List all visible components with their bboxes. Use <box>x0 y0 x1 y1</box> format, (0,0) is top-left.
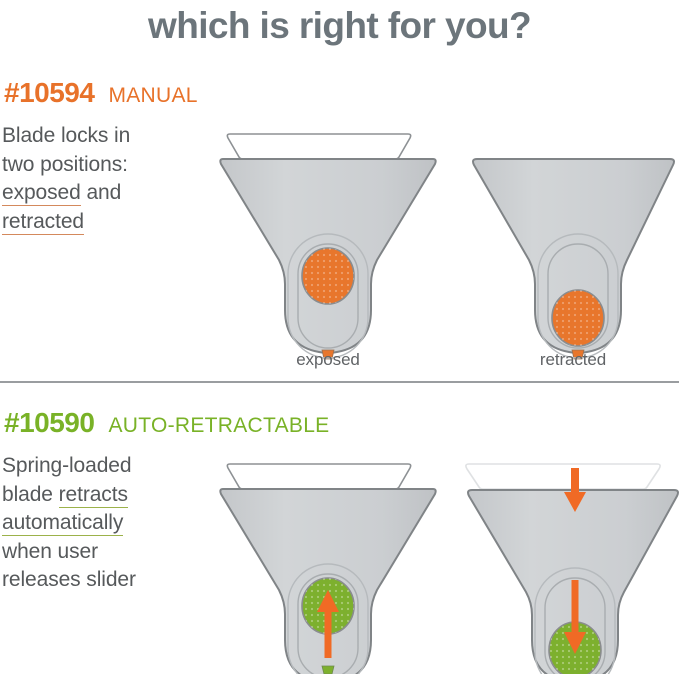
blade-tip <box>322 666 334 674</box>
blade-shape <box>227 134 410 159</box>
figure-blade-exposed <box>213 120 443 370</box>
infographic-page: which is right for you? #10594 MANUAL Bl… <box>0 0 679 674</box>
caption-exposed: exposed <box>213 350 443 370</box>
copy-text-emphasis: retracted <box>2 210 84 235</box>
copy-line: blade retracts <box>2 481 217 510</box>
copy-line: releases slider <box>2 566 217 595</box>
figure-slider-up <box>213 450 443 674</box>
copy-text-emphasis: automatically <box>2 511 123 536</box>
copy-text-emphasis: exposed <box>2 181 81 206</box>
copy-text: when user <box>2 540 98 563</box>
description-auto: Spring-loadedblade retractsautomatically… <box>2 452 217 595</box>
copy-line: Spring-loaded <box>2 452 217 481</box>
slider-knob <box>302 248 354 304</box>
sku-manual: #10594 <box>4 78 94 108</box>
figure-slider-down <box>458 450 679 674</box>
section-heading-auto: #10590 AUTO-RETRACTABLE <box>4 408 330 441</box>
figure-blade-retracted <box>458 120 679 370</box>
sku-auto: #10590 <box>4 408 94 438</box>
copy-line: automatically <box>2 509 217 538</box>
copy-text: Spring-loaded <box>2 454 131 477</box>
blade-shape-ghost <box>466 464 660 489</box>
kind-manual: MANUAL <box>108 81 197 111</box>
page-title: which is right for you? <box>0 2 679 50</box>
copy-text: blade <box>2 483 59 506</box>
copy-line: Blade locks in <box>2 122 217 151</box>
section-heading-manual: #10594 MANUAL <box>4 78 198 111</box>
slider-knob <box>552 290 604 346</box>
description-manual: Blade locks intwo positions:exposed andr… <box>2 122 217 236</box>
copy-text-emphasis: retracts <box>59 483 128 508</box>
copy-text: Blade locks in <box>2 124 130 147</box>
caption-retracted: retracted <box>458 350 679 370</box>
copy-text: releases slider <box>2 568 136 591</box>
copy-line: exposed and <box>2 179 217 208</box>
copy-text: two positions: <box>2 153 128 176</box>
blade-shape <box>227 464 410 489</box>
copy-line: retracted <box>2 208 217 237</box>
kind-auto: AUTO-RETRACTABLE <box>108 411 329 441</box>
copy-text: and <box>81 181 121 204</box>
copy-line: two positions: <box>2 151 217 180</box>
section-divider <box>0 381 679 383</box>
copy-line: when user <box>2 538 217 567</box>
